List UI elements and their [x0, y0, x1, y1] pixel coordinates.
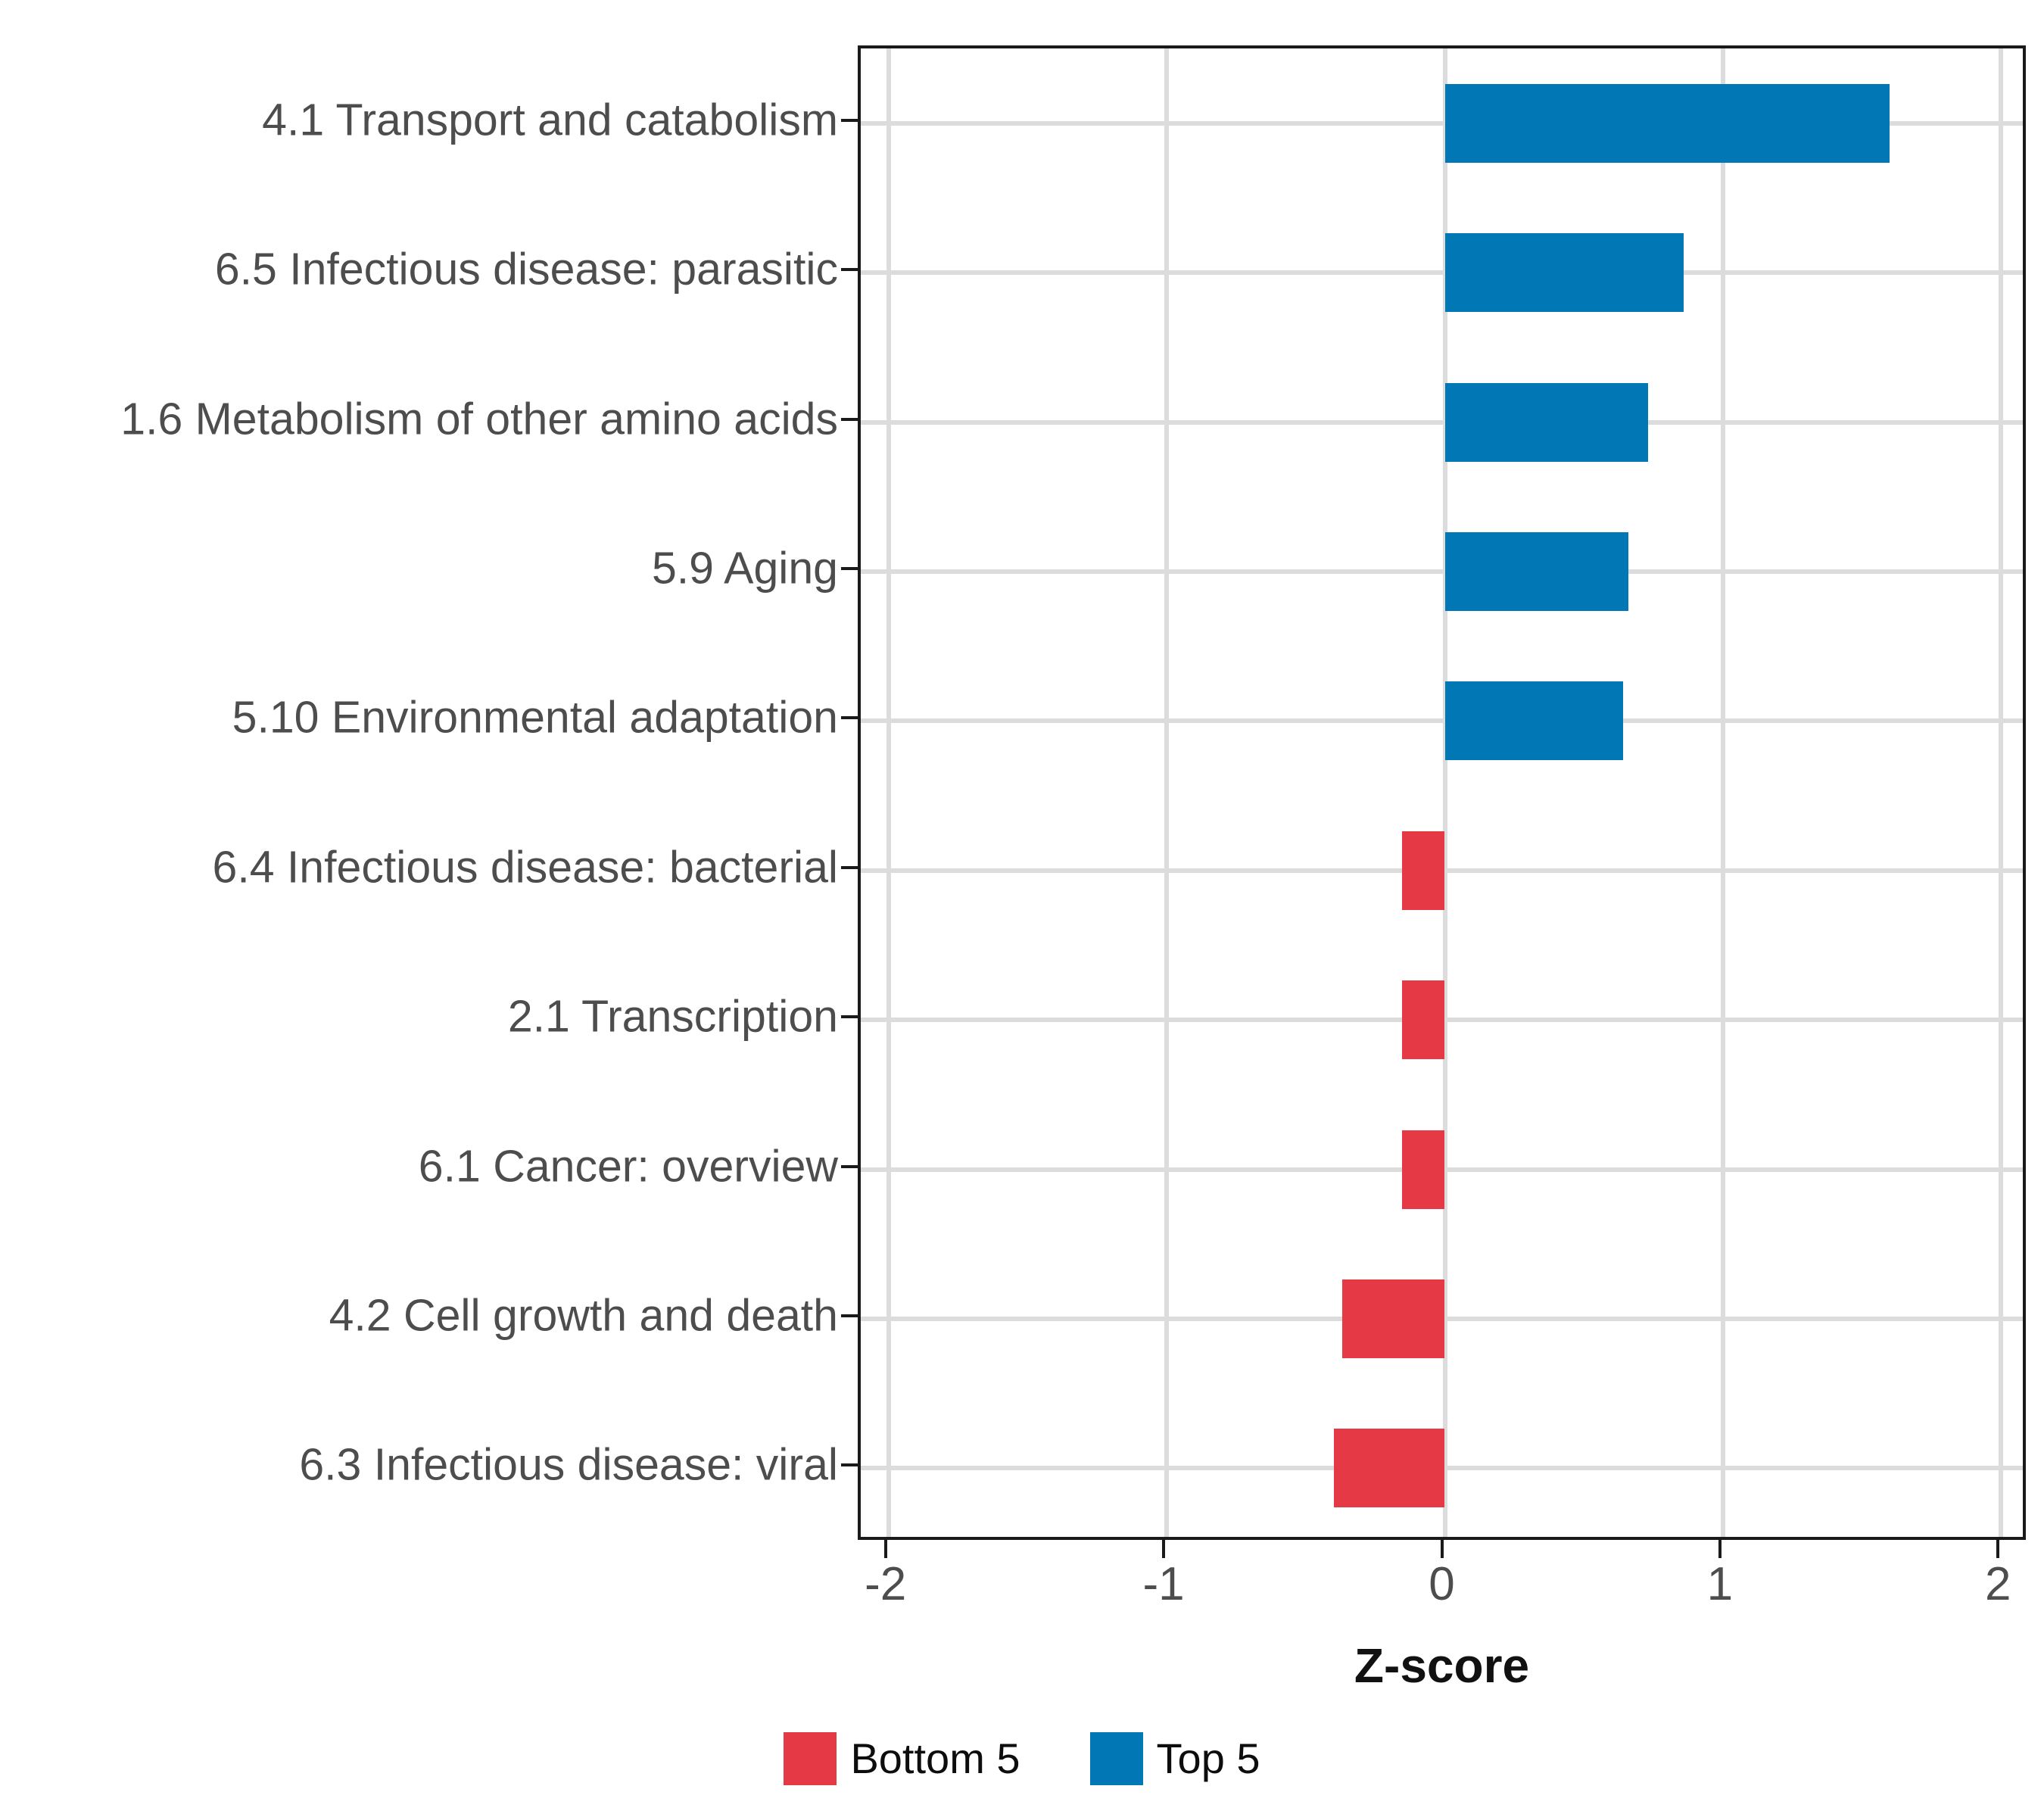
bar: [1402, 831, 1445, 910]
y-axis-tick-label: 4.2 Cell growth and death: [329, 1293, 838, 1338]
y-gridline: [861, 718, 2023, 723]
y-axis-tick-mark: [841, 1165, 858, 1168]
y-axis-tick-mark: [841, 418, 858, 421]
y-axis-tick-label: 6.3 Infectious disease: viral: [299, 1443, 838, 1488]
bar: [1342, 1279, 1445, 1358]
y-gridline: [861, 270, 2023, 275]
legend-label: Top 5: [1157, 1738, 1260, 1780]
y-axis-tick-label: 4.1 Transport and catabolism: [262, 98, 838, 142]
legend-label: Bottom 5: [850, 1738, 1020, 1780]
y-axis-tick-mark: [841, 1015, 858, 1018]
x-axis-tick-mark: [1996, 1540, 1999, 1558]
bar: [1445, 233, 1684, 312]
bar: [1445, 532, 1628, 611]
x-axis-tick-label: 0: [1429, 1561, 1454, 1608]
x-axis-title: Z-score: [858, 1641, 2026, 1690]
legend-swatch-icon: [784, 1732, 837, 1785]
y-axis-tick-mark: [841, 716, 858, 719]
y-axis-tick-mark: [841, 1463, 858, 1466]
bar: [1402, 980, 1445, 1059]
legend-item[interactable]: Top 5: [1090, 1732, 1260, 1785]
y-axis-tick-label: 6.1 Cancer: overview: [419, 1144, 838, 1189]
y-gridline: [861, 420, 2023, 425]
y-gridline: [861, 569, 2023, 574]
y-axis-labels: 4.1 Transport and catabolism6.5 Infectio…: [0, 45, 858, 1540]
legend-item[interactable]: Bottom 5: [784, 1732, 1020, 1785]
x-axis: -2-1012: [858, 1540, 2026, 1638]
bar: [1402, 1130, 1445, 1209]
x-axis-tick-mark: [884, 1540, 887, 1558]
y-axis-tick-label: 6.4 Infectious disease: bacterial: [213, 845, 839, 890]
bar: [1445, 84, 1890, 163]
zscore-bar-chart: 4.1 Transport and catabolism6.5 Infectio…: [0, 0, 2044, 1817]
plot-panel: [858, 45, 2026, 1540]
x-axis-tick-mark: [1718, 1540, 1722, 1558]
x-axis-tick-label: 2: [1985, 1561, 2011, 1608]
x-axis-tick-label: -2: [865, 1561, 906, 1608]
y-axis-tick-mark: [841, 119, 858, 122]
legend-swatch-icon: [1090, 1732, 1143, 1785]
y-axis-tick-mark: [841, 1314, 858, 1317]
y-axis-tick-label: 1.6 Metabolism of other amino acids: [120, 397, 838, 441]
bar: [1445, 383, 1648, 462]
y-axis-tick-label: 5.9 Aging: [652, 546, 838, 591]
y-axis-tick-label: 5.10 Environmental adaptation: [232, 696, 838, 740]
y-axis-tick-label: 2.1 Transcription: [508, 995, 838, 1039]
bar: [1445, 681, 1623, 760]
x-axis-tick-mark: [1441, 1540, 1444, 1558]
y-axis-tick-label: 6.5 Infectious disease: parasitic: [215, 248, 838, 292]
x-axis-tick-mark: [1162, 1540, 1165, 1558]
y-axis-tick-mark: [841, 567, 858, 570]
y-axis-tick-mark: [841, 866, 858, 869]
bar: [1334, 1429, 1445, 1507]
y-axis-tick-mark: [841, 268, 858, 271]
x-axis-tick-label: 1: [1707, 1561, 1733, 1608]
chart-legend: Bottom 5Top 5: [0, 1732, 2044, 1785]
x-axis-tick-label: -1: [1143, 1561, 1185, 1608]
